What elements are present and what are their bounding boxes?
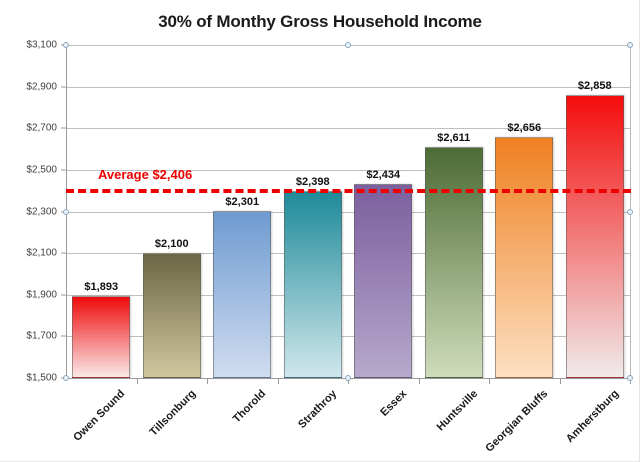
bar-value-label: $2,611 <box>437 132 470 144</box>
bar[interactable]: $2,100 <box>143 253 201 378</box>
bar-slot: $2,398 <box>278 45 349 378</box>
bar[interactable]: $1,893 <box>72 296 130 378</box>
y-axis-tick-mark <box>61 169 66 170</box>
bar[interactable]: $2,858 <box>566 95 624 378</box>
y-axis-tick-mark <box>61 336 66 337</box>
x-axis-tick-mark <box>419 379 420 384</box>
selection-handle[interactable] <box>63 42 69 48</box>
bar[interactable]: $2,611 <box>425 147 483 378</box>
bar[interactable]: $2,434 <box>354 184 412 378</box>
average-reference-line <box>66 189 631 193</box>
y-axis-tick-mark <box>61 294 66 295</box>
bar-value-label: $2,398 <box>296 176 330 188</box>
y-axis-tick-label: $1,900 <box>0 289 57 300</box>
y-axis-tick-label: $2,100 <box>0 248 57 259</box>
x-axis-category-label: Owen Sound <box>0 388 127 462</box>
y-axis-tick-mark <box>61 253 66 254</box>
plot-area: $1,893$2,100$2,301$2,398$2,434$2,611$2,6… <box>66 45 630 378</box>
bar-value-label: $2,434 <box>366 169 400 181</box>
bar-slot: $1,893 <box>66 45 137 378</box>
y-axis-tick-label: $1,500 <box>0 373 57 384</box>
selection-handle[interactable] <box>345 375 351 381</box>
selection-handle[interactable] <box>63 209 69 215</box>
bar[interactable]: $2,398 <box>284 191 342 378</box>
chart-title: 30% of Monthy Gross Household Income <box>0 12 640 32</box>
bar-value-label: $2,656 <box>507 122 541 134</box>
x-axis-tick-mark <box>137 379 138 384</box>
bar[interactable]: $2,656 <box>495 137 553 378</box>
bar-slot: $2,301 <box>207 45 278 378</box>
y-axis-tick-label: $2,300 <box>0 206 57 217</box>
y-axis-tick-label: $1,700 <box>0 331 57 342</box>
average-line-label: Average $2,406 <box>98 167 192 182</box>
selection-handle[interactable] <box>345 42 351 48</box>
bar-value-label: $2,301 <box>225 196 259 208</box>
selection-handle[interactable] <box>627 375 633 381</box>
y-axis-tick-label: $2,900 <box>0 81 57 92</box>
x-axis-tick-mark <box>278 379 279 384</box>
bar-slot: $2,656 <box>489 45 560 378</box>
bar-slot: $2,100 <box>137 45 208 378</box>
y-axis-tick-label: $2,500 <box>0 164 57 175</box>
bar-slot: $2,858 <box>560 45 631 378</box>
selection-handle[interactable] <box>627 209 633 215</box>
y-axis-tick-mark <box>61 128 66 129</box>
x-axis-tick-mark <box>489 379 490 384</box>
bar-value-label: $1,893 <box>84 281 118 293</box>
y-axis-tick-label: $2,700 <box>0 123 57 134</box>
bar-value-label: $2,858 <box>578 80 612 92</box>
selection-handle[interactable] <box>627 42 633 48</box>
bar-slot: $2,611 <box>419 45 490 378</box>
x-axis-tick-mark <box>560 379 561 384</box>
y-axis-tick-mark <box>61 86 66 87</box>
bar[interactable]: $2,301 <box>213 211 271 378</box>
bar-value-label: $2,100 <box>155 238 189 250</box>
bar-slot: $2,434 <box>348 45 419 378</box>
x-axis-tick-mark <box>207 379 208 384</box>
y-axis-tick-label: $3,100 <box>0 40 57 51</box>
chart-container: 30% of Monthy Gross Household Income $1,… <box>0 0 640 462</box>
selection-handle[interactable] <box>63 375 69 381</box>
